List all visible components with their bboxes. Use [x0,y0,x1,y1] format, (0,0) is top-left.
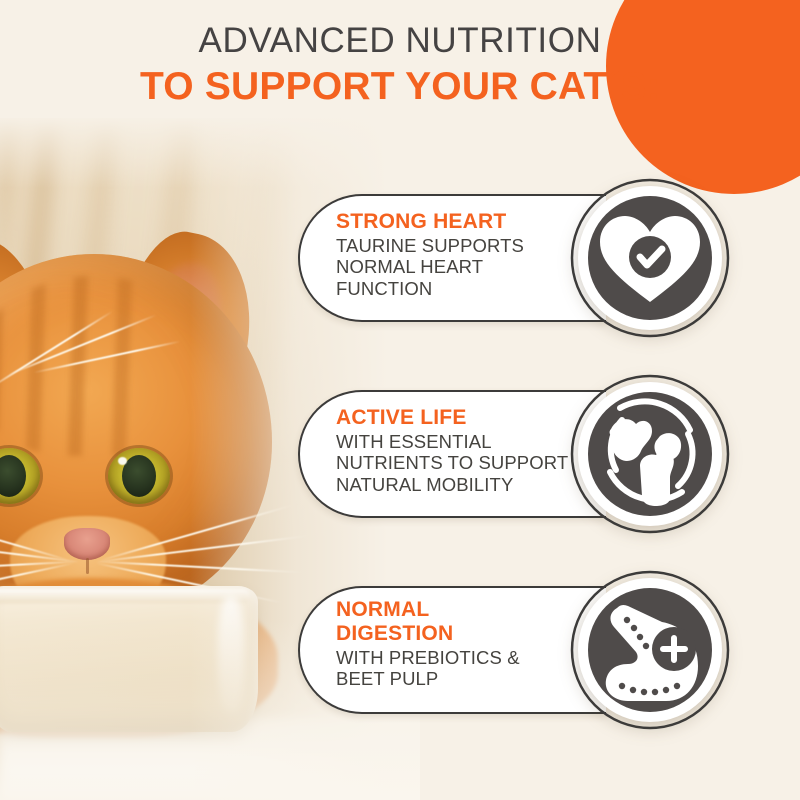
benefit-card: ACTIVE LIFE WITH ESSENTIAL NUTRIENTS TO … [298,390,606,518]
benefit-title: STRONG HEART [336,210,586,234]
heart-check-icon [570,178,730,338]
benefit-body: WITH PREBIOTICS & BEET PULP [336,647,586,690]
headline-line-2: TO SUPPORT YOUR CAT´S: [0,66,800,109]
benefit-item-active-life[interactable]: ACTIVE LIFE WITH ESSENTIAL NUTRIENTS TO … [298,374,718,534]
benefit-card-text: STRONG HEART TAURINE SUPPORTS NORMAL HEA… [336,210,586,299]
stomach-plus-icon [570,570,730,730]
joint-bones-icon [570,374,730,534]
benefit-title: ACTIVE LIFE [336,406,586,430]
benefit-item-strong-heart[interactable]: STRONG HEART TAURINE SUPPORTS NORMAL HEA… [298,178,718,338]
poster-canvas: ADVANCED NUTRITION TO SUPPORT YOUR CAT´S… [0,0,800,800]
benefit-item-normal-digestion[interactable]: NORMAL DIGESTION WITH PREBIOTICS & BEET … [298,570,718,730]
benefit-body: TAURINE SUPPORTS NORMAL HEART FUNCTION [336,235,586,299]
benefit-card-text: ACTIVE LIFE WITH ESSENTIAL NUTRIENTS TO … [336,406,586,495]
benefit-card-text: NORMAL DIGESTION WITH PREBIOTICS & BEET … [336,598,586,690]
benefit-body: WITH ESSENTIAL NUTRIENTS TO SUPPORT NATU… [336,431,586,495]
benefit-card: STRONG HEART TAURINE SUPPORTS NORMAL HEA… [298,194,606,322]
page-title: ADVANCED NUTRITION TO SUPPORT YOUR CAT´S… [0,22,800,108]
benefit-title: NORMAL DIGESTION [336,598,586,646]
headline-line-1: ADVANCED NUTRITION [0,22,800,61]
benefit-card: NORMAL DIGESTION WITH PREBIOTICS & BEET … [298,586,606,714]
